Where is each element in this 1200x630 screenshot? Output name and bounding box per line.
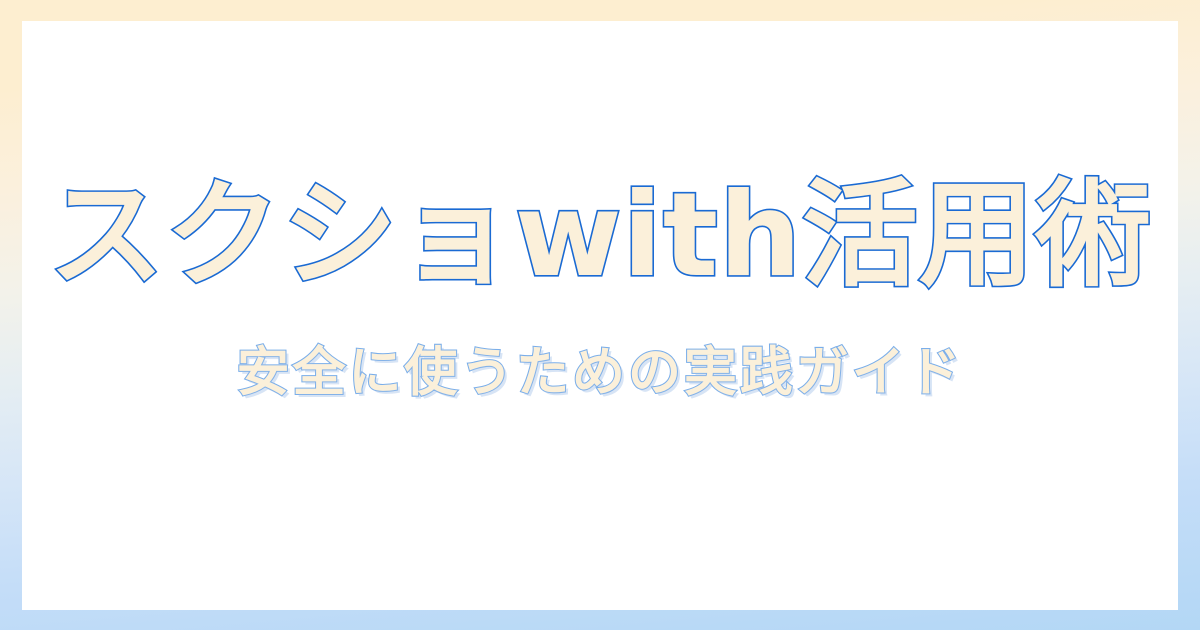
- title-block: スクショwith活用術 安全に使うための実践ガイド: [22, 21, 1178, 610]
- page-subtitle: 安全に使うための実践ガイド: [237, 344, 964, 402]
- ogp-banner: スクショwith活用術 安全に使うための実践ガイド: [0, 0, 1200, 630]
- white-card: スクショwith活用術 安全に使うための実践ガイド: [22, 21, 1178, 610]
- page-title: スクショwith活用術: [48, 175, 1151, 298]
